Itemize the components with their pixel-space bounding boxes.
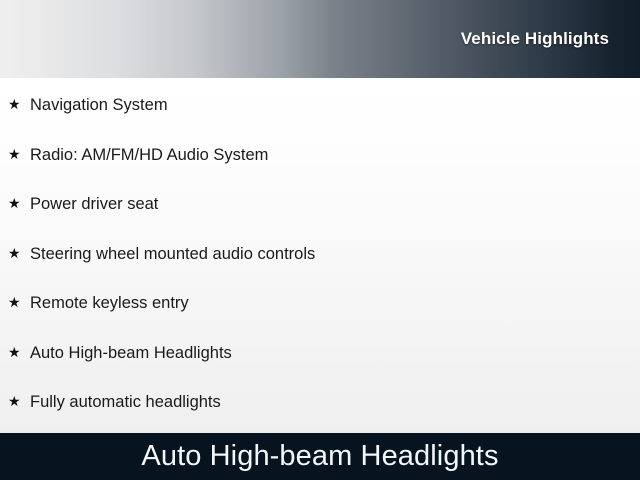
list-item-label: Steering wheel mounted audio controls	[30, 246, 640, 263]
star-icon: ★	[8, 295, 30, 309]
footer-banner: Auto High-beam Headlights	[0, 433, 640, 480]
footer-caption-text: Auto High-beam Headlights	[141, 442, 498, 471]
list-item-label: Navigation System	[30, 97, 640, 114]
list-item-label: Auto High-beam Headlights	[30, 345, 640, 362]
highlights-list: ★ Navigation System ★ Radio: AM/FM/HD Au…	[0, 78, 640, 433]
vehicle-highlights-slide: Vehicle Highlights ★ Navigation System ★…	[0, 0, 640, 480]
star-icon: ★	[8, 147, 30, 161]
list-item: ★ Power driver seat	[0, 196, 640, 246]
list-item-label: Remote keyless entry	[30, 295, 640, 312]
page-title: Vehicle Highlights	[461, 30, 609, 47]
list-item-label: Radio: AM/FM/HD Audio System	[30, 147, 640, 164]
list-item: ★ Steering wheel mounted audio controls	[0, 246, 640, 296]
star-icon: ★	[8, 246, 30, 260]
list-item: ★ Auto High-beam Headlights	[0, 345, 640, 395]
star-icon: ★	[8, 345, 30, 359]
list-item: ★ Radio: AM/FM/HD Audio System	[0, 147, 640, 197]
list-item: ★ Fully automatic headlights	[0, 394, 640, 433]
list-item: ★ Remote keyless entry	[0, 295, 640, 345]
list-item-label: Power driver seat	[30, 196, 640, 213]
star-icon: ★	[8, 196, 30, 210]
star-icon: ★	[8, 394, 30, 408]
star-icon: ★	[8, 97, 30, 111]
list-item: ★ Navigation System	[0, 78, 640, 147]
header-band: Vehicle Highlights	[0, 0, 640, 78]
highlights-panel: ★ Navigation System ★ Radio: AM/FM/HD Au…	[0, 78, 640, 433]
list-item-label: Fully automatic headlights	[30, 394, 640, 411]
